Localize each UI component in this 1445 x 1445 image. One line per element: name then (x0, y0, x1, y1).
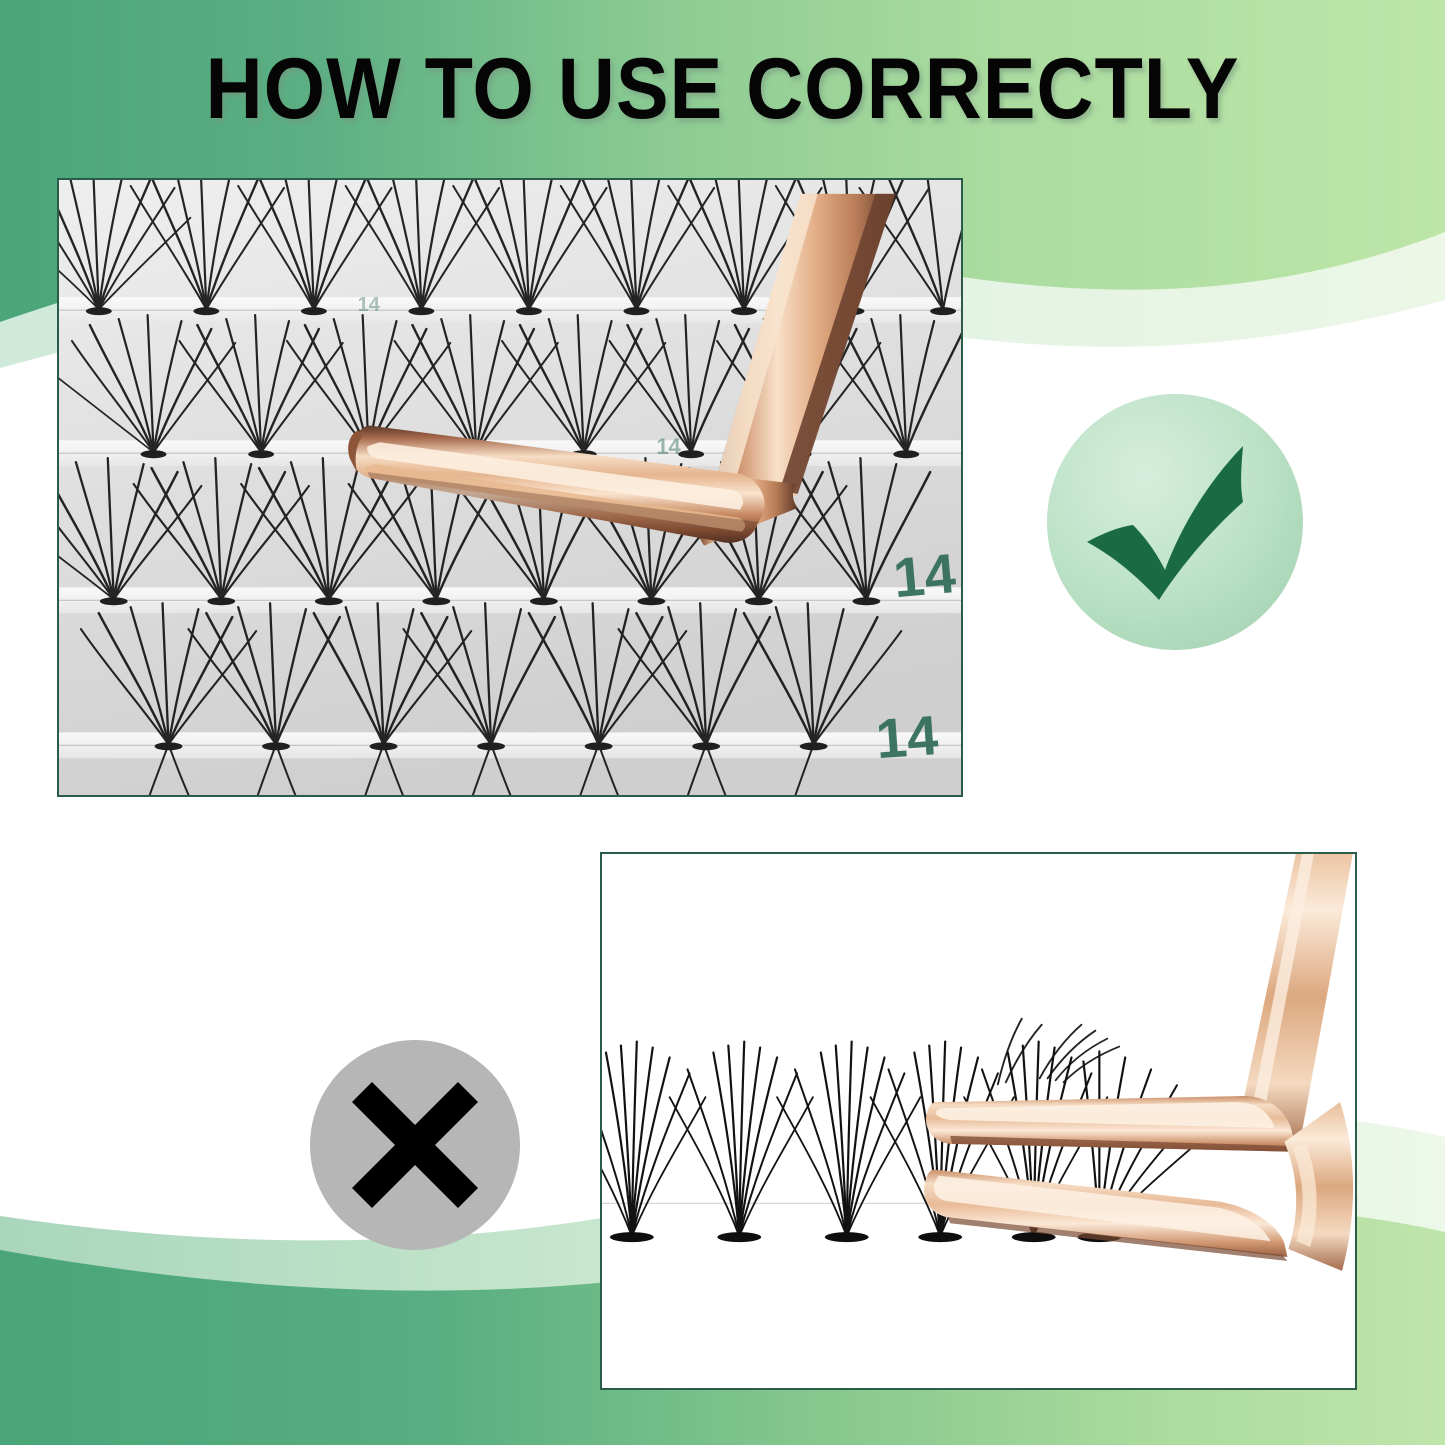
page-title: HOW TO USE CORRECTLY (58, 46, 1387, 132)
photo-correct-usage: 14 14 14 14 (57, 178, 963, 797)
check-icon (1087, 446, 1243, 600)
infographic-canvas: HOW TO USE CORRECTLY (0, 0, 1445, 1445)
svg-text:14: 14 (891, 542, 958, 609)
x-icon (352, 1082, 478, 1208)
status-badge-incorrect (310, 1040, 520, 1250)
svg-text:14: 14 (874, 704, 940, 770)
photo-incorrect-usage (600, 852, 1357, 1390)
svg-text:14: 14 (656, 434, 681, 459)
svg-text:14: 14 (358, 294, 380, 316)
status-badge-correct (1047, 394, 1303, 650)
